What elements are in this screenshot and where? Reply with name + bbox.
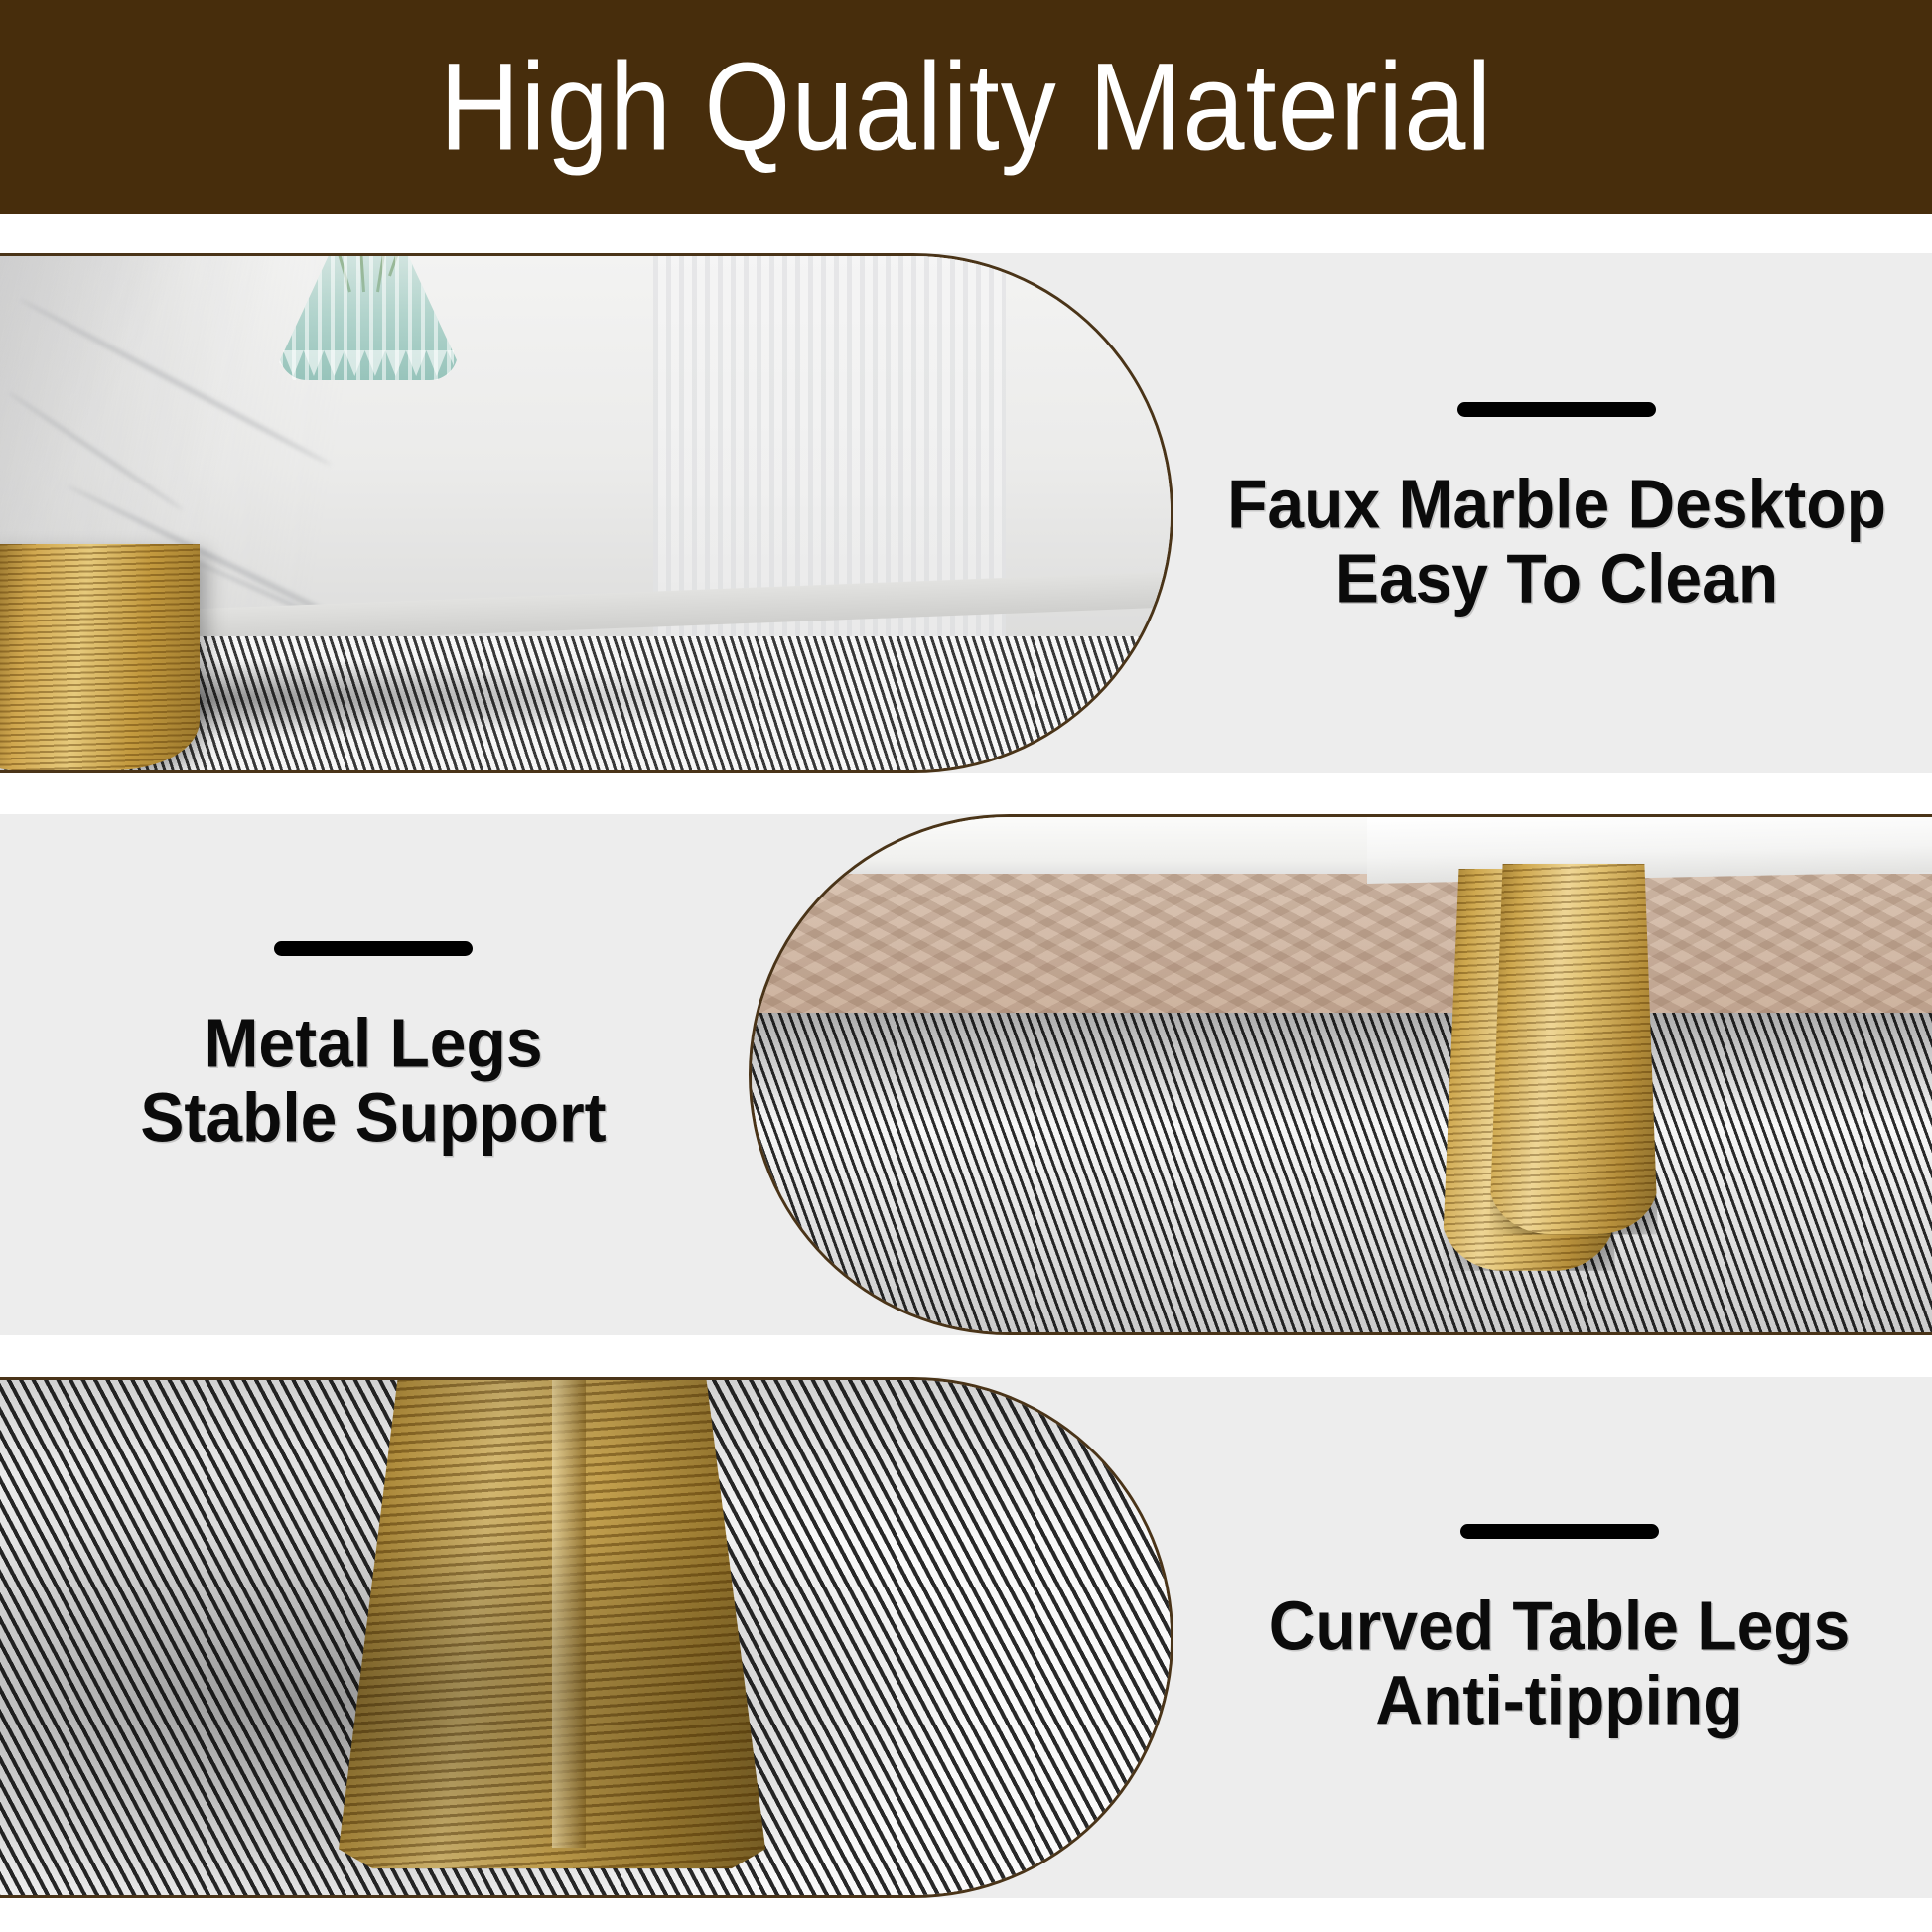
- caption-line-2: Anti-tipping: [1375, 1660, 1742, 1738]
- rug-shadow: [0, 1380, 1171, 1895]
- caption-line-1: Curved Table Legs: [1269, 1587, 1851, 1665]
- rug-shadow: [752, 1013, 1932, 1332]
- product-photo-faux-marble-desktop: [0, 253, 1173, 773]
- feature-panel-metal-legs: Metal Legs Stable Support: [0, 814, 1932, 1335]
- marble-tabletop-edge: [1367, 814, 1932, 884]
- caption-metal-legs: Metal Legs Stable Support: [0, 941, 747, 1154]
- product-photo-curved-table-legs: [0, 1377, 1173, 1898]
- gold-table-leg: [0, 544, 200, 770]
- product-photo-metal-legs: [749, 814, 1932, 1335]
- gold-table-leg: [1489, 864, 1658, 1235]
- caption-line-1: Faux Marble Desktop: [1227, 465, 1886, 543]
- photo-curved-table-legs: [0, 1380, 1171, 1895]
- caption-dash-icon: [274, 941, 473, 956]
- caption-line-1: Metal Legs: [204, 1004, 542, 1082]
- caption-curved-table-legs: Curved Table Legs Anti-tipping: [1186, 1524, 1932, 1736]
- caption-dash-icon: [1457, 402, 1656, 417]
- page-title: High Quality Material: [440, 45, 1493, 169]
- caption-faux-marble-desktop: Faux Marble Desktop Easy To Clean: [1181, 402, 1932, 615]
- header-banner: High Quality Material: [0, 0, 1932, 214]
- herringbone-wood-floor: [752, 874, 1932, 1018]
- photo-metal-legs: [752, 817, 1932, 1332]
- feature-panel-curved-table-legs: Curved Table Legs Anti-tipping: [0, 1377, 1932, 1898]
- infographic-page: High Quality Material: [0, 0, 1932, 1932]
- caption-line-2: Stable Support: [140, 1077, 606, 1156]
- glass-vase: [279, 253, 458, 380]
- feature-panel-faux-marble-desktop: Faux Marble Desktop Easy To Clean: [0, 253, 1932, 773]
- photo-faux-marble-desktop: [0, 256, 1171, 770]
- caption-line-2: Easy To Clean: [1335, 538, 1778, 617]
- caption-dash-icon: [1460, 1524, 1659, 1539]
